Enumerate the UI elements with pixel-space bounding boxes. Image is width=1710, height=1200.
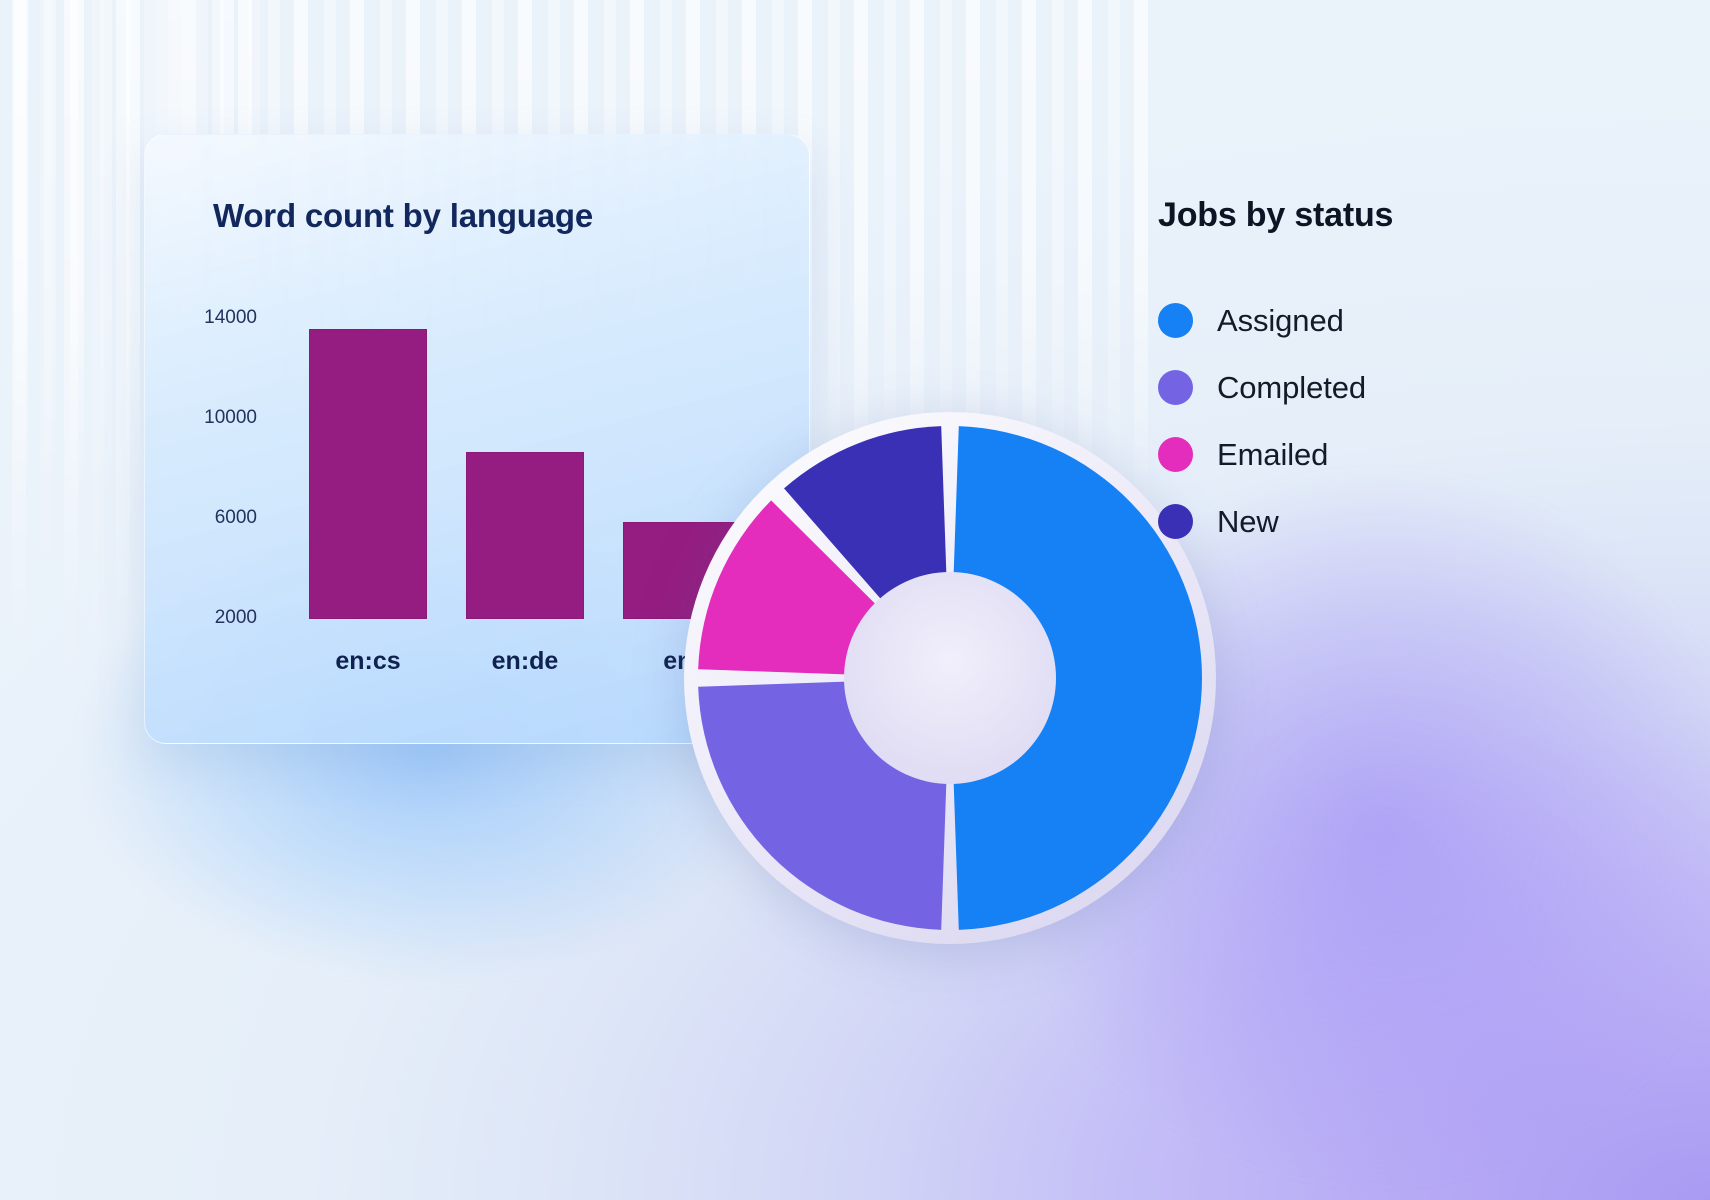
legend-item-emailed[interactable]: Emailed bbox=[1158, 421, 1598, 488]
legend-item-label: Emailed bbox=[1217, 437, 1328, 473]
y-axis-tick-label: 2000 bbox=[165, 607, 257, 629]
legend-list: AssignedCompletedEmailedNew bbox=[1158, 287, 1598, 555]
legend-item-new[interactable]: New bbox=[1158, 488, 1598, 555]
jobs-by-status-panel: Jobs by status AssignedCompletedEmailedN… bbox=[1158, 196, 1598, 555]
bar-en-de[interactable] bbox=[466, 452, 584, 620]
x-axis-tick-label: en:de bbox=[442, 647, 608, 676]
legend-color-swatch-icon bbox=[1158, 370, 1193, 405]
legend-item-label: Assigned bbox=[1217, 303, 1344, 339]
legend-color-swatch-icon bbox=[1158, 504, 1193, 539]
legend-item-label: New bbox=[1217, 504, 1279, 540]
legend-color-swatch-icon bbox=[1158, 437, 1193, 472]
x-axis-tick-label: en:cs bbox=[285, 647, 451, 676]
donut-svg bbox=[680, 408, 1220, 948]
donut-center-hub bbox=[844, 572, 1056, 784]
bar-en-cs[interactable] bbox=[309, 329, 427, 619]
y-axis-tick-label: 10000 bbox=[165, 407, 257, 429]
legend-item-label: Completed bbox=[1217, 370, 1366, 406]
y-axis-tick-label: 6000 bbox=[165, 507, 257, 529]
legend-item-assigned[interactable]: Assigned bbox=[1158, 287, 1598, 354]
donut-chart-title: Jobs by status bbox=[1158, 196, 1598, 235]
jobs-by-status-donut-chart bbox=[680, 408, 1220, 948]
y-axis-tick-label: 14000 bbox=[165, 307, 257, 329]
legend-color-swatch-icon bbox=[1158, 303, 1193, 338]
legend-item-completed[interactable]: Completed bbox=[1158, 354, 1598, 421]
